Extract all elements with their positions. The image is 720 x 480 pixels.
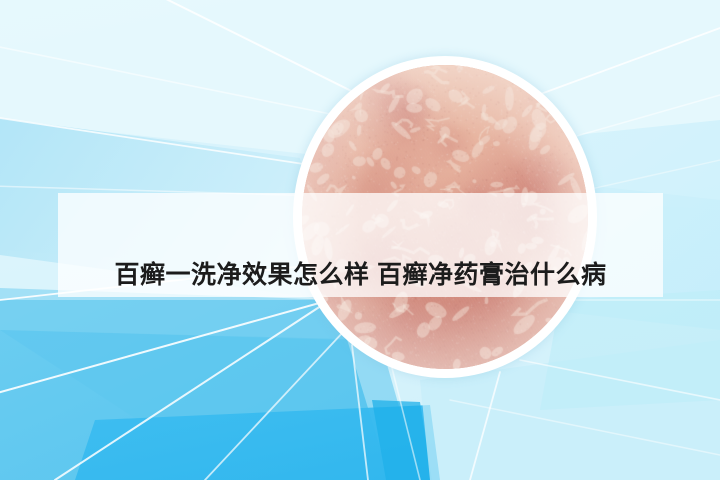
title-banner: 百癣一洗净效果怎么样 百癣净药膏治什么病: [58, 193, 663, 297]
promo-banner-page: 百癣一洗净效果怎么样 百癣净药膏治什么病: [0, 0, 720, 480]
page-title: 百癣一洗净效果怎么样 百癣净药膏治什么病: [115, 263, 607, 288]
